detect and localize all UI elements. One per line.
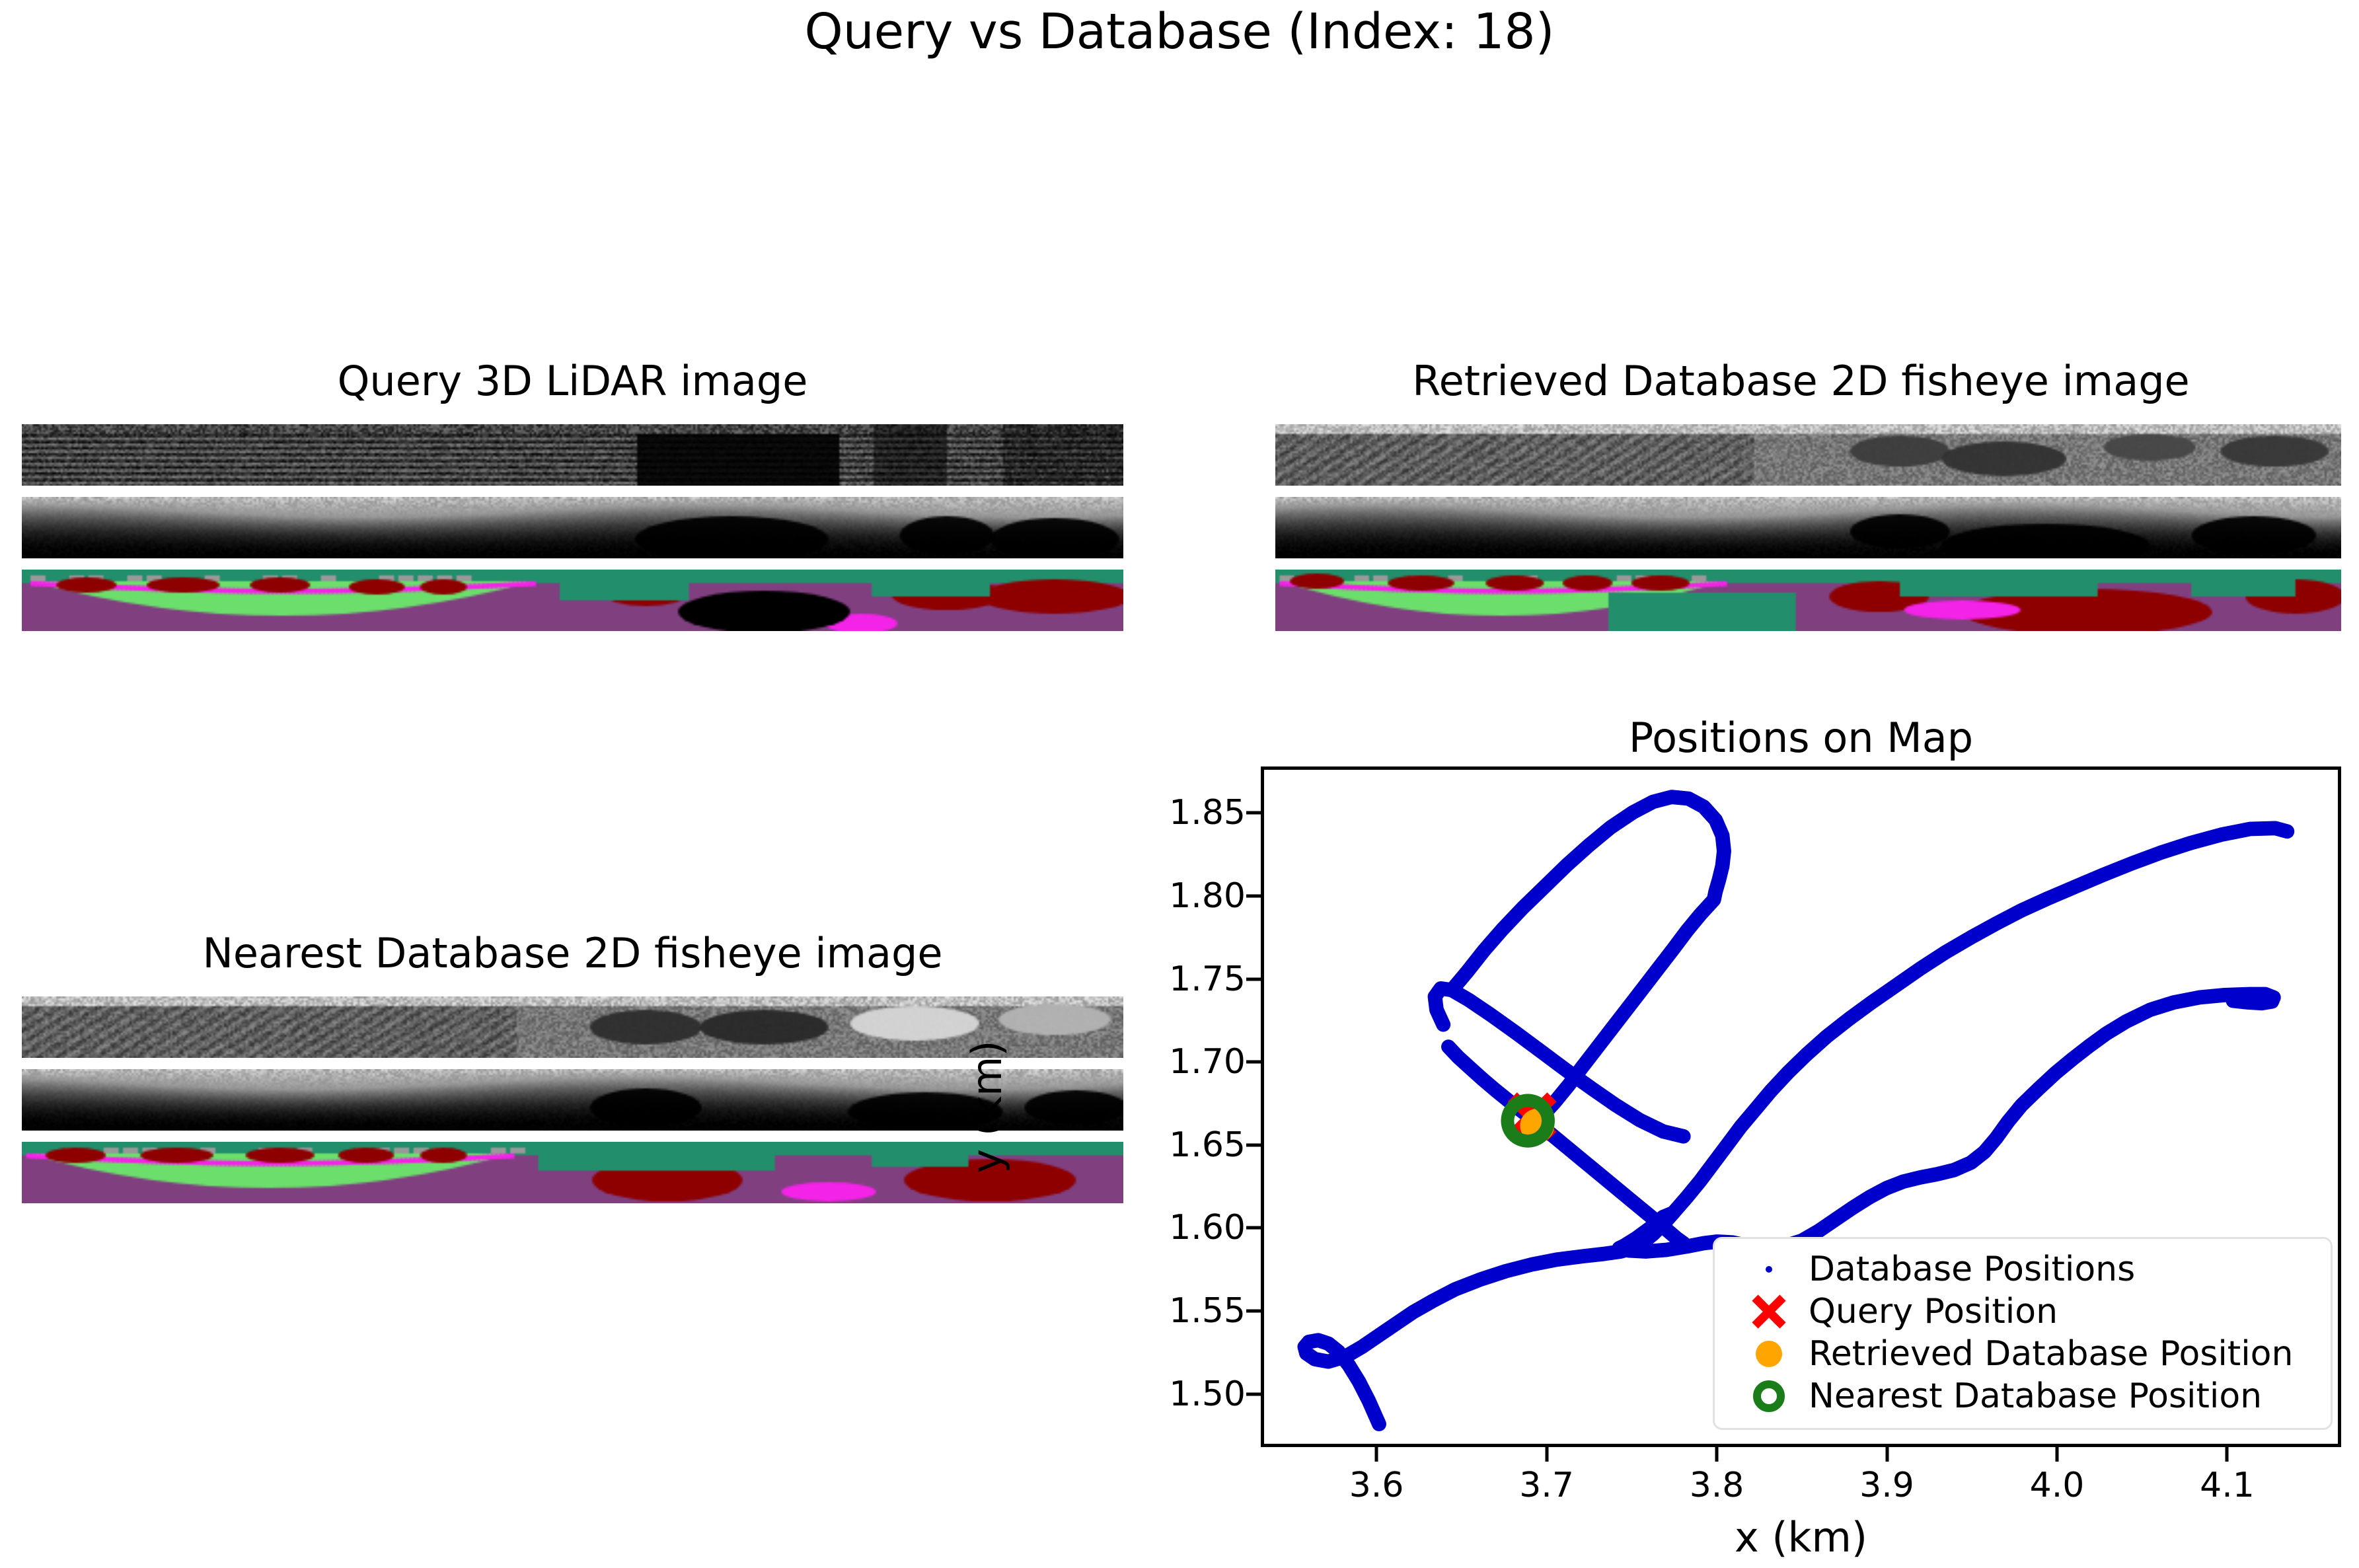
y-tick-label: 1.70 — [1169, 1042, 1246, 1082]
y-tick-mark — [1246, 977, 1261, 981]
x-tick-mark — [1885, 1447, 1889, 1462]
y-tick-mark — [1246, 894, 1261, 897]
nearest-db-title: Nearest Database 2D fisheye image — [22, 929, 1123, 977]
query-lidar-semantic-strip — [22, 570, 1123, 631]
x-tick-mark — [2056, 1447, 2059, 1462]
x-tick-mark — [1375, 1447, 1378, 1462]
y-tick-label: 1.60 — [1169, 1208, 1246, 1248]
y-tick-mark — [1246, 1226, 1261, 1230]
map-legend: Database PositionsQuery PositionRetrieve… — [1713, 1237, 2333, 1430]
legend-marker-circle-icon — [1729, 1334, 1809, 1374]
figure-title: Query vs Database (Index: 18) — [0, 3, 2359, 60]
x-tick-mark — [2226, 1447, 2229, 1462]
y-tick-mark — [1246, 1061, 1261, 1064]
x-axis-tick-marks — [1261, 1447, 2341, 1462]
legend-item: Database Positions — [1729, 1248, 2316, 1290]
x-tick-label: 3.8 — [1690, 1466, 1744, 1505]
y-tick-label: 1.85 — [1169, 793, 1246, 833]
legend-item: Query Position — [1729, 1290, 2316, 1333]
nearest-db-grayscale-strip — [22, 996, 1123, 1058]
legend-label: Retrieved Database Position — [1809, 1334, 2293, 1374]
y-tick-mark — [1246, 1392, 1261, 1396]
retrieved-db-title: Retrieved Database 2D fisheye image — [1261, 357, 2341, 405]
query-lidar-intensity-strip — [22, 424, 1123, 486]
retrieved-db-depth-strip — [1275, 497, 2341, 558]
x-tick-mark — [1545, 1447, 1548, 1462]
y-axis-label: y (km) — [963, 1040, 1011, 1173]
y-tick-label: 1.50 — [1169, 1374, 1246, 1414]
legend-item: Retrieved Database Position — [1729, 1333, 2316, 1375]
retrieved-db-grayscale-strip — [1275, 424, 2341, 486]
x-tick-label: 4.1 — [2200, 1466, 2255, 1505]
nearest-db-depth-strip — [22, 1069, 1123, 1131]
legend-label: Query Position — [1809, 1292, 2058, 1331]
x-tick-label: 3.9 — [1859, 1466, 1914, 1505]
y-axis-tick-marks — [1246, 766, 1261, 1447]
nearest-db-semantic-strip — [22, 1142, 1123, 1203]
legend-marker-ring-icon — [1729, 1376, 1809, 1416]
y-tick-label: 1.80 — [1169, 876, 1246, 916]
y-tick-mark — [1246, 1310, 1261, 1313]
x-tick-mark — [1715, 1447, 1719, 1462]
x-axis-label: x (km) — [1261, 1513, 2341, 1561]
query-lidar-title: Query 3D LiDAR image — [22, 357, 1123, 405]
legend-marker-x-icon — [1729, 1292, 1809, 1331]
y-axis-ticks: 1.501.551.601.651.701.751.801.85 — [1057, 766, 1246, 1447]
x-tick-label: 3.6 — [1349, 1466, 1404, 1505]
x-tick-label: 4.0 — [2030, 1466, 2085, 1505]
x-tick-label: 3.7 — [1519, 1466, 1574, 1505]
x-axis-ticks: 3.63.73.83.94.04.1 — [1261, 1466, 2341, 1512]
y-tick-label: 1.75 — [1169, 959, 1246, 999]
legend-item: Nearest Database Position — [1729, 1375, 2316, 1417]
legend-label: Nearest Database Position — [1809, 1376, 2262, 1416]
y-tick-label: 1.65 — [1169, 1125, 1246, 1165]
legend-marker-dot-icon — [1729, 1250, 1809, 1289]
map-plot-title: Positions on Map — [1261, 714, 2341, 762]
y-tick-label: 1.55 — [1169, 1291, 1246, 1331]
retrieved-db-semantic-strip — [1275, 570, 2341, 631]
y-tick-mark — [1246, 811, 1261, 815]
legend-label: Database Positions — [1809, 1250, 2135, 1289]
y-tick-mark — [1246, 1143, 1261, 1146]
query-lidar-depth-strip — [22, 497, 1123, 558]
